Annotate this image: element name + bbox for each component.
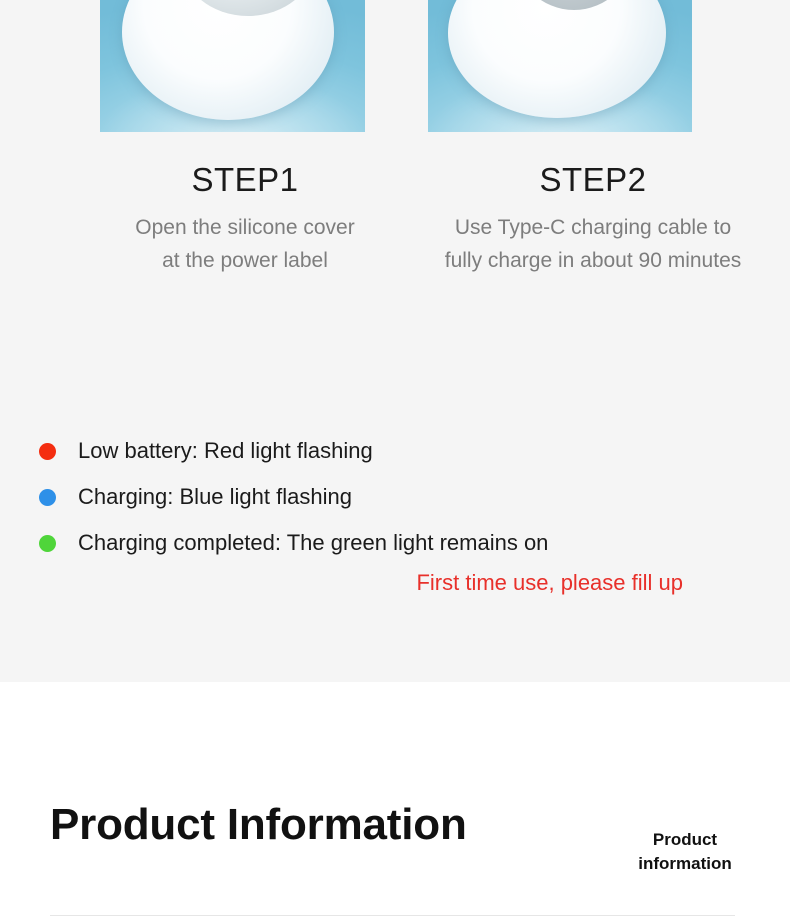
step-1-title: STEP1 bbox=[80, 160, 410, 200]
indicator-label-low-battery: Low battery: Red light flashing bbox=[78, 438, 373, 464]
section-divider bbox=[50, 915, 735, 916]
step-1-description-line-1: Open the silicone cover bbox=[80, 211, 410, 244]
metal-disc bbox=[180, 0, 316, 16]
product-information-heading: Product Information bbox=[50, 795, 467, 855]
led-indicator-list: Low battery: Red light flashing Charging… bbox=[39, 428, 749, 598]
list-item: Charging completed: The green light rema… bbox=[39, 520, 749, 566]
step-photo-row bbox=[0, 0, 790, 132]
product-information-subheading-line-1: Product bbox=[600, 828, 770, 852]
step-2-description-line-1: Use Type-C charging cable to bbox=[398, 211, 788, 244]
step-2-description: Use Type-C charging cable to fully charg… bbox=[398, 211, 788, 277]
indicator-label-charging-completed: Charging completed: The green light rema… bbox=[78, 530, 548, 556]
step-1-description: Open the silicone cover at the power lab… bbox=[80, 211, 410, 277]
step-2-title: STEP2 bbox=[398, 160, 788, 200]
step-2: STEP2 Use Type-C charging cable to fully… bbox=[398, 160, 788, 277]
red-dot-icon bbox=[39, 443, 56, 460]
step-1: STEP1 Open the silicone cover at the pow… bbox=[80, 160, 410, 277]
step2-photo bbox=[428, 0, 692, 132]
indicator-label-charging: Charging: Blue light flashing bbox=[78, 484, 352, 510]
list-item: Charging: Blue light flashing bbox=[39, 474, 749, 520]
step1-photo bbox=[100, 0, 365, 132]
green-dot-icon bbox=[39, 535, 56, 552]
silicone-cover bbox=[514, 0, 634, 10]
step-1-description-line-2: at the power label bbox=[80, 244, 410, 277]
blue-dot-icon bbox=[39, 489, 56, 506]
charging-guide-panel: STEP1 Open the silicone cover at the pow… bbox=[0, 0, 790, 682]
list-item: Low battery: Red light flashing bbox=[39, 428, 749, 474]
product-information-subheading-line-2: information bbox=[600, 852, 770, 876]
first-use-note: First time use, please fill up bbox=[39, 568, 749, 598]
step-2-description-line-2: fully charge in about 90 minutes bbox=[398, 244, 788, 277]
product-information-subheading: Product information bbox=[600, 828, 770, 876]
